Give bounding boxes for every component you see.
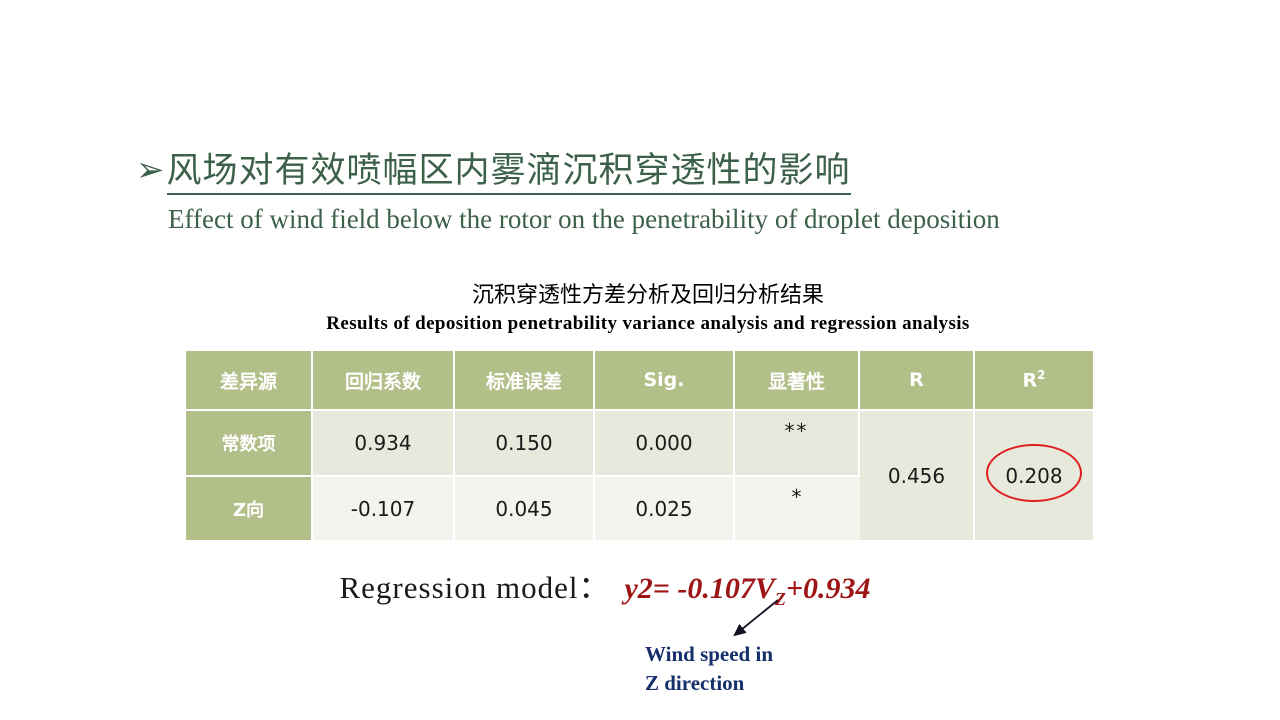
slide-canvas: ➢ 风场对有效喷幅区内雾滴沉积穿透性的影响 Effect of wind fie…: [0, 0, 1280, 720]
heading-title-cn: 风场对有效喷幅区内雾滴沉积穿透性的影响: [167, 150, 851, 195]
annotation-text: Wind speed in Z direction: [645, 640, 773, 698]
cell-sig-constant: 0.000: [595, 411, 735, 477]
slide-heading: ➢ 风场对有效喷幅区内雾滴沉积穿透性的影响: [136, 150, 851, 195]
cell-significance-z: *: [735, 477, 860, 542]
annotation-line-1: Wind speed in: [645, 640, 773, 669]
header-r: R: [860, 351, 975, 411]
table-header-row: 差异源 回归系数 标准误差 Sig. 显著性 R R2: [186, 351, 1093, 411]
cell-r-squared-value: 0.208: [975, 411, 1093, 542]
bullet-arrow-icon: ➢: [136, 150, 165, 190]
cell-sig-z: 0.025: [595, 477, 735, 542]
formula-prefix: y2= -0.107: [624, 572, 754, 605]
table-caption-en: Results of deposition penetrability vari…: [8, 312, 1280, 335]
table-row: 常数项 0.934 0.150 0.000 ** 0.456 0.208: [186, 411, 1093, 477]
row-label-z-direction: Z向: [186, 477, 313, 542]
row-label-constant: 常数项: [186, 411, 313, 477]
annotation-line-2: Z direction: [645, 669, 773, 698]
cell-std-error-z: 0.045: [455, 477, 595, 542]
regression-label: Regression model：: [339, 570, 610, 605]
results-table-wrapper: 差异源 回归系数 标准误差 Sig. 显著性 R R2 常数项 0.934 0.…: [186, 351, 1093, 524]
regression-model-line: Regression model：y2= -0.107VZ+0.934: [0, 562, 1245, 610]
formula-variable: VZ: [755, 572, 786, 605]
header-source: 差异源: [186, 351, 313, 411]
cell-coefficient-constant: 0.934: [313, 411, 455, 477]
header-r-squared-exponent: 2: [1037, 368, 1045, 382]
header-sig: Sig.: [595, 351, 735, 411]
cell-r-value: 0.456: [860, 411, 975, 542]
header-r-squared-base: R: [1023, 370, 1038, 392]
formula-variable-subscript: Z: [775, 589, 786, 609]
table-caption-cn: 沉积穿透性方差分析及回归分析结果: [8, 283, 1280, 309]
cell-std-error-constant: 0.150: [455, 411, 595, 477]
formula-variable-base: V: [755, 572, 775, 605]
regression-formula: y2= -0.107VZ+0.934: [624, 572, 870, 605]
header-significance: 显著性: [735, 351, 860, 411]
formula-suffix: +0.934: [786, 572, 871, 605]
header-r-squared: R2: [975, 351, 1093, 411]
header-std-error: 标准误差: [455, 351, 595, 411]
cell-significance-constant: **: [735, 411, 860, 477]
cell-coefficient-z: -0.107: [313, 477, 455, 542]
header-coefficient: 回归系数: [313, 351, 455, 411]
results-table: 差异源 回归系数 标准误差 Sig. 显著性 R R2 常数项 0.934 0.…: [186, 351, 1093, 542]
heading-title-en: Effect of wind field below the rotor on …: [168, 203, 1000, 235]
